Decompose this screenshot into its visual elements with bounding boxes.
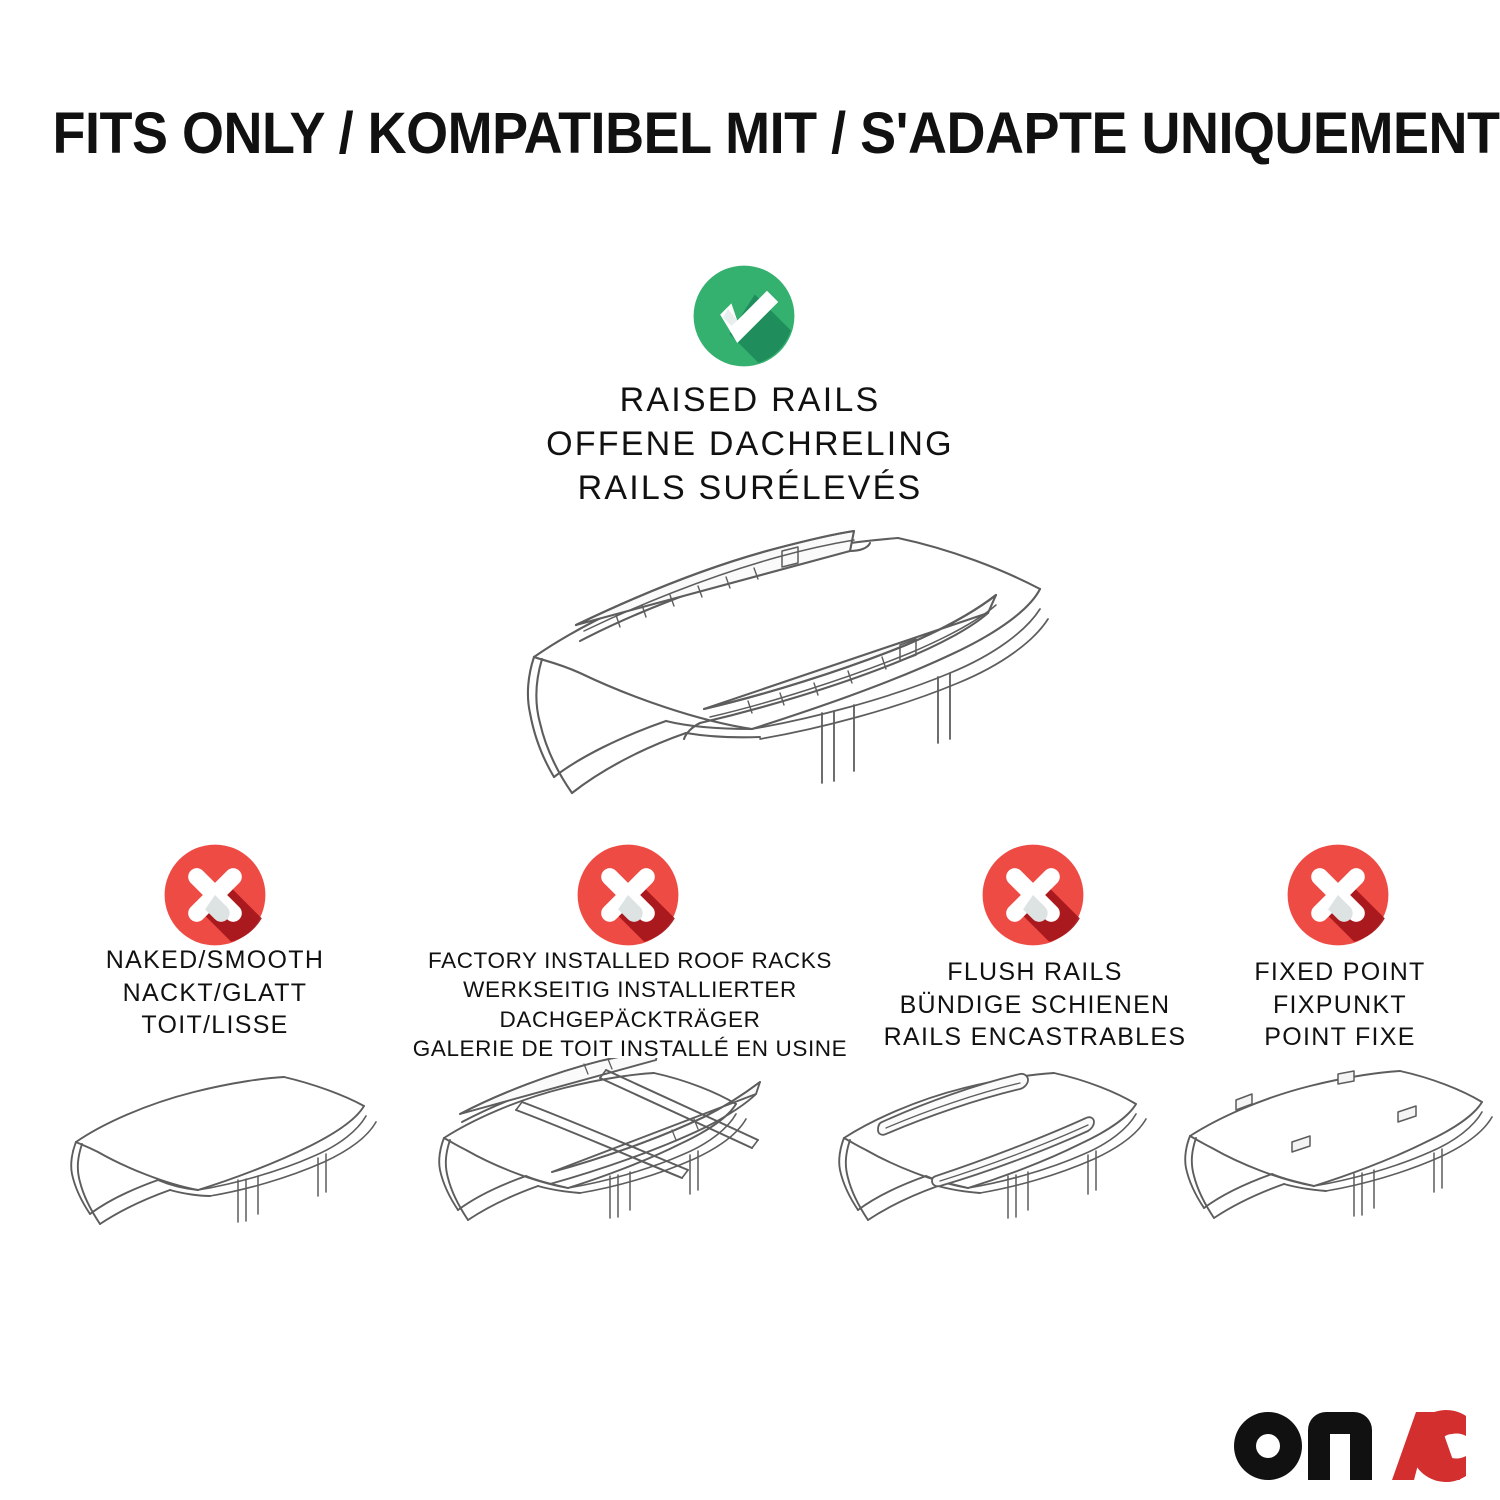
excluded-caption-1: NAKED/SMOOTH NACKT/GLATT TOIT/LISSE <box>45 944 385 1042</box>
caption-line: RAILS ENCASTRABLES <box>855 1021 1215 1054</box>
roof-factory-racks-illustration <box>404 1058 774 1290</box>
roof-flush-rails-illustration <box>808 1062 1168 1290</box>
excluded-caption-3: FLUSH RAILS BÜNDIGE SCHIENEN RAILS ENCAS… <box>855 956 1215 1054</box>
cross-circle-icon <box>161 841 269 949</box>
caption-line: NAKED/SMOOTH <box>45 944 385 977</box>
caption-line: DACHGEPÄCKTRÄGER <box>390 1005 870 1034</box>
caption-line: FACTORY INSTALLED ROOF RACKS <box>390 946 870 975</box>
featured-caption-line: RAILS SURÉLEVÉS <box>400 466 1100 510</box>
caption-line: FLUSH RAILS <box>855 956 1215 989</box>
caption-line: TOIT/LISSE <box>45 1009 385 1042</box>
caption-line: FIXPUNKT <box>1190 989 1490 1022</box>
page-title: FITS ONLY / KOMPATIBEL MIT / S'ADAPTE UN… <box>53 104 1448 165</box>
caption-line: POINT FIXE <box>1190 1021 1490 1054</box>
caption-line: FIXED POINT <box>1190 956 1490 989</box>
excluded-caption-2: FACTORY INSTALLED ROOF RACKS WERKSEITIG … <box>390 946 870 1063</box>
omac-logo <box>1232 1408 1472 1486</box>
fitment-compatibility-infographic: FITS ONLY / KOMPATIBEL MIT / S'ADAPTE UN… <box>0 0 1500 1500</box>
check-circle-icon <box>690 262 798 370</box>
roof-raised-rails-illustration <box>430 505 1070 835</box>
caption-line: BÜNDIGE SCHIENEN <box>855 989 1215 1022</box>
excluded-caption-4: FIXED POINT FIXPUNKT POINT FIXE <box>1190 956 1490 1054</box>
featured-caption-line: OFFENE DACHRELING <box>400 422 1100 466</box>
cross-circle-icon <box>979 841 1087 949</box>
cross-circle-icon <box>574 841 682 949</box>
roof-naked-smooth-illustration <box>42 1062 394 1290</box>
featured-caption: RAISED RAILS OFFENE DACHRELING RAILS SUR… <box>400 378 1100 511</box>
cross-circle-icon <box>1284 841 1392 949</box>
roof-fixed-point-illustration <box>1160 1062 1500 1290</box>
featured-caption-line: RAISED RAILS <box>400 378 1100 422</box>
caption-line: WERKSEITIG INSTALLIERTER <box>390 975 870 1004</box>
caption-line: NACKT/GLATT <box>45 977 385 1010</box>
